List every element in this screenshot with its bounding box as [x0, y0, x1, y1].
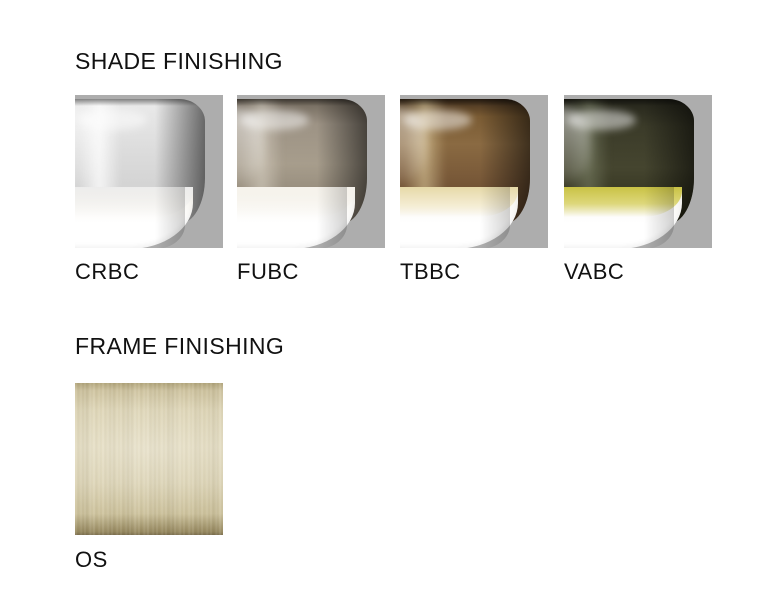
lamp-diffuser-tbbc	[400, 187, 518, 248]
shade-swatch-item-fubc[interactable]: FUBC	[237, 95, 385, 248]
frame-swatch-label-os: OS	[75, 549, 108, 571]
glass-top-rim	[400, 99, 530, 106]
lamp-diffuser-fubc	[237, 187, 355, 248]
shade-swatch-label-fubc: FUBC	[237, 261, 299, 283]
diffuser-rim	[317, 187, 347, 248]
shade-swatch-image-fubc[interactable]	[237, 95, 385, 248]
glass-top-rim	[237, 99, 367, 106]
shade-swatch-item-tbbc[interactable]: TBBC	[400, 95, 548, 248]
shade-swatch-image-tbbc[interactable]	[400, 95, 548, 248]
glass-top-highlight	[567, 110, 636, 130]
glass-top-highlight	[240, 110, 309, 130]
diffuser-rim	[644, 187, 674, 248]
shade-swatch-label-tbbc: TBBC	[400, 261, 461, 283]
shade-swatch-image-crbc[interactable]	[75, 95, 223, 248]
product-finishes-page: SHADE FINISHING CRBC	[0, 0, 780, 600]
shade-finishing-heading: SHADE FINISHING	[75, 50, 283, 73]
shade-swatch-label-crbc: CRBC	[75, 261, 139, 283]
glass-top-rim	[564, 99, 694, 106]
glass-top-highlight	[403, 110, 472, 130]
shade-swatch-label-vabc: VABC	[564, 261, 624, 283]
shade-swatch-item-vabc[interactable]: VABC	[564, 95, 712, 248]
glass-top-highlight	[78, 110, 147, 130]
diffuser-rim	[480, 187, 510, 248]
shade-swatch-item-crbc[interactable]: CRBC	[75, 95, 223, 248]
frame-swatch-item-os[interactable]: OS	[75, 383, 275, 535]
lamp-diffuser-vabc	[564, 187, 682, 248]
frame-finishing-heading: FRAME FINISHING	[75, 335, 284, 358]
frame-swatch-row: OS	[75, 383, 275, 583]
glass-top-rim	[75, 99, 205, 106]
metal-sheen	[75, 383, 223, 535]
diffuser-rim	[155, 187, 185, 248]
frame-swatch-image-os[interactable]	[75, 383, 223, 535]
shade-swatch-row: CRBC FUBC	[75, 95, 715, 290]
lamp-diffuser-crbc	[75, 187, 193, 248]
shade-swatch-image-vabc[interactable]	[564, 95, 712, 248]
